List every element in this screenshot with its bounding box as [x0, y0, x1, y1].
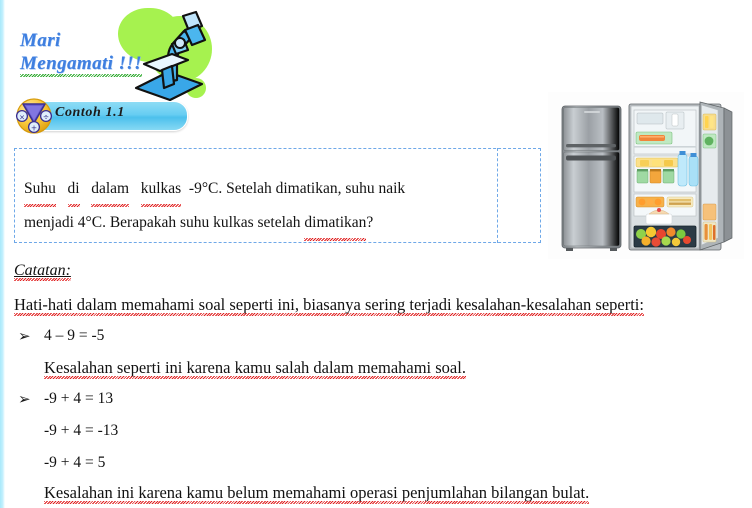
open-refrigerator [629, 102, 732, 250]
bullet-arrow-icon: ➢ [18, 390, 31, 408]
math-operators-icon: × ÷ + [14, 97, 54, 135]
notes-heading-text: Catatan: [14, 262, 71, 280]
question-line-2: menjadi 4°C. Berapakah suhu kulkas setel… [24, 206, 490, 240]
note-explanation-text: Kesalahan seperti ini karena kamu salah … [44, 358, 466, 378]
refrigerator-photo [548, 92, 744, 259]
question-text-run: menjadi 4°C. Berapakah suhu kulkas setel… [24, 214, 304, 231]
question-word: kulkas [141, 172, 181, 206]
question-word: Suhu [24, 172, 56, 206]
note-explanation-text: Kesalahan ini karena kamu belum memahami… [44, 483, 589, 503]
svg-text:+: + [31, 123, 37, 132]
note-equation-extra: -9 + 4 = 5 [44, 454, 105, 472]
note-equation-extra: -9 + 4 = -13 [44, 422, 118, 440]
question-rest: -9°C. Setelah dimatikan, suhu naik [189, 180, 405, 197]
svg-text:÷: ÷ [43, 112, 49, 121]
question-word: di [68, 172, 80, 206]
section-heading: MariMengamati !!! [20, 29, 142, 75]
question-word: dimatikan [304, 206, 366, 240]
heading-line-2: Mengamati !!! [20, 52, 142, 75]
question-text: Suhu di dalam kulkas -9°C. Setelah dimat… [24, 172, 490, 240]
question-line-1: Suhu di dalam kulkas -9°C. Setelah dimat… [24, 172, 490, 206]
notes-heading: Catatan: [14, 262, 71, 280]
notes-intro: Hati-hati dalam memahami soal seperti in… [14, 295, 752, 315]
notes-intro-text: Hati-hati dalam memahami soal seperti in… [14, 295, 644, 315]
note-explanation: Kesalahan seperti ini karena kamu salah … [44, 358, 466, 378]
question-punct: ? [366, 214, 373, 231]
bullet-arrow-icon: ➢ [18, 327, 31, 345]
heading-line-1: Mari [20, 30, 61, 51]
note-equation: -9 + 4 = 13 [44, 390, 113, 408]
svg-text:×: × [19, 113, 25, 121]
note-equation: 4 – 9 = -5 [44, 327, 104, 345]
contoh-badge-label: Contoh 1.1 [55, 105, 125, 121]
note-explanation: Kesalahan ini karena kamu belum memahami… [44, 483, 589, 503]
question-word: dalam [91, 172, 129, 206]
closed-refrigerator [562, 106, 621, 251]
document-page: MariMengamati !!! × ÷ + Contoh 1.1 Suhu … [0, 0, 752, 508]
